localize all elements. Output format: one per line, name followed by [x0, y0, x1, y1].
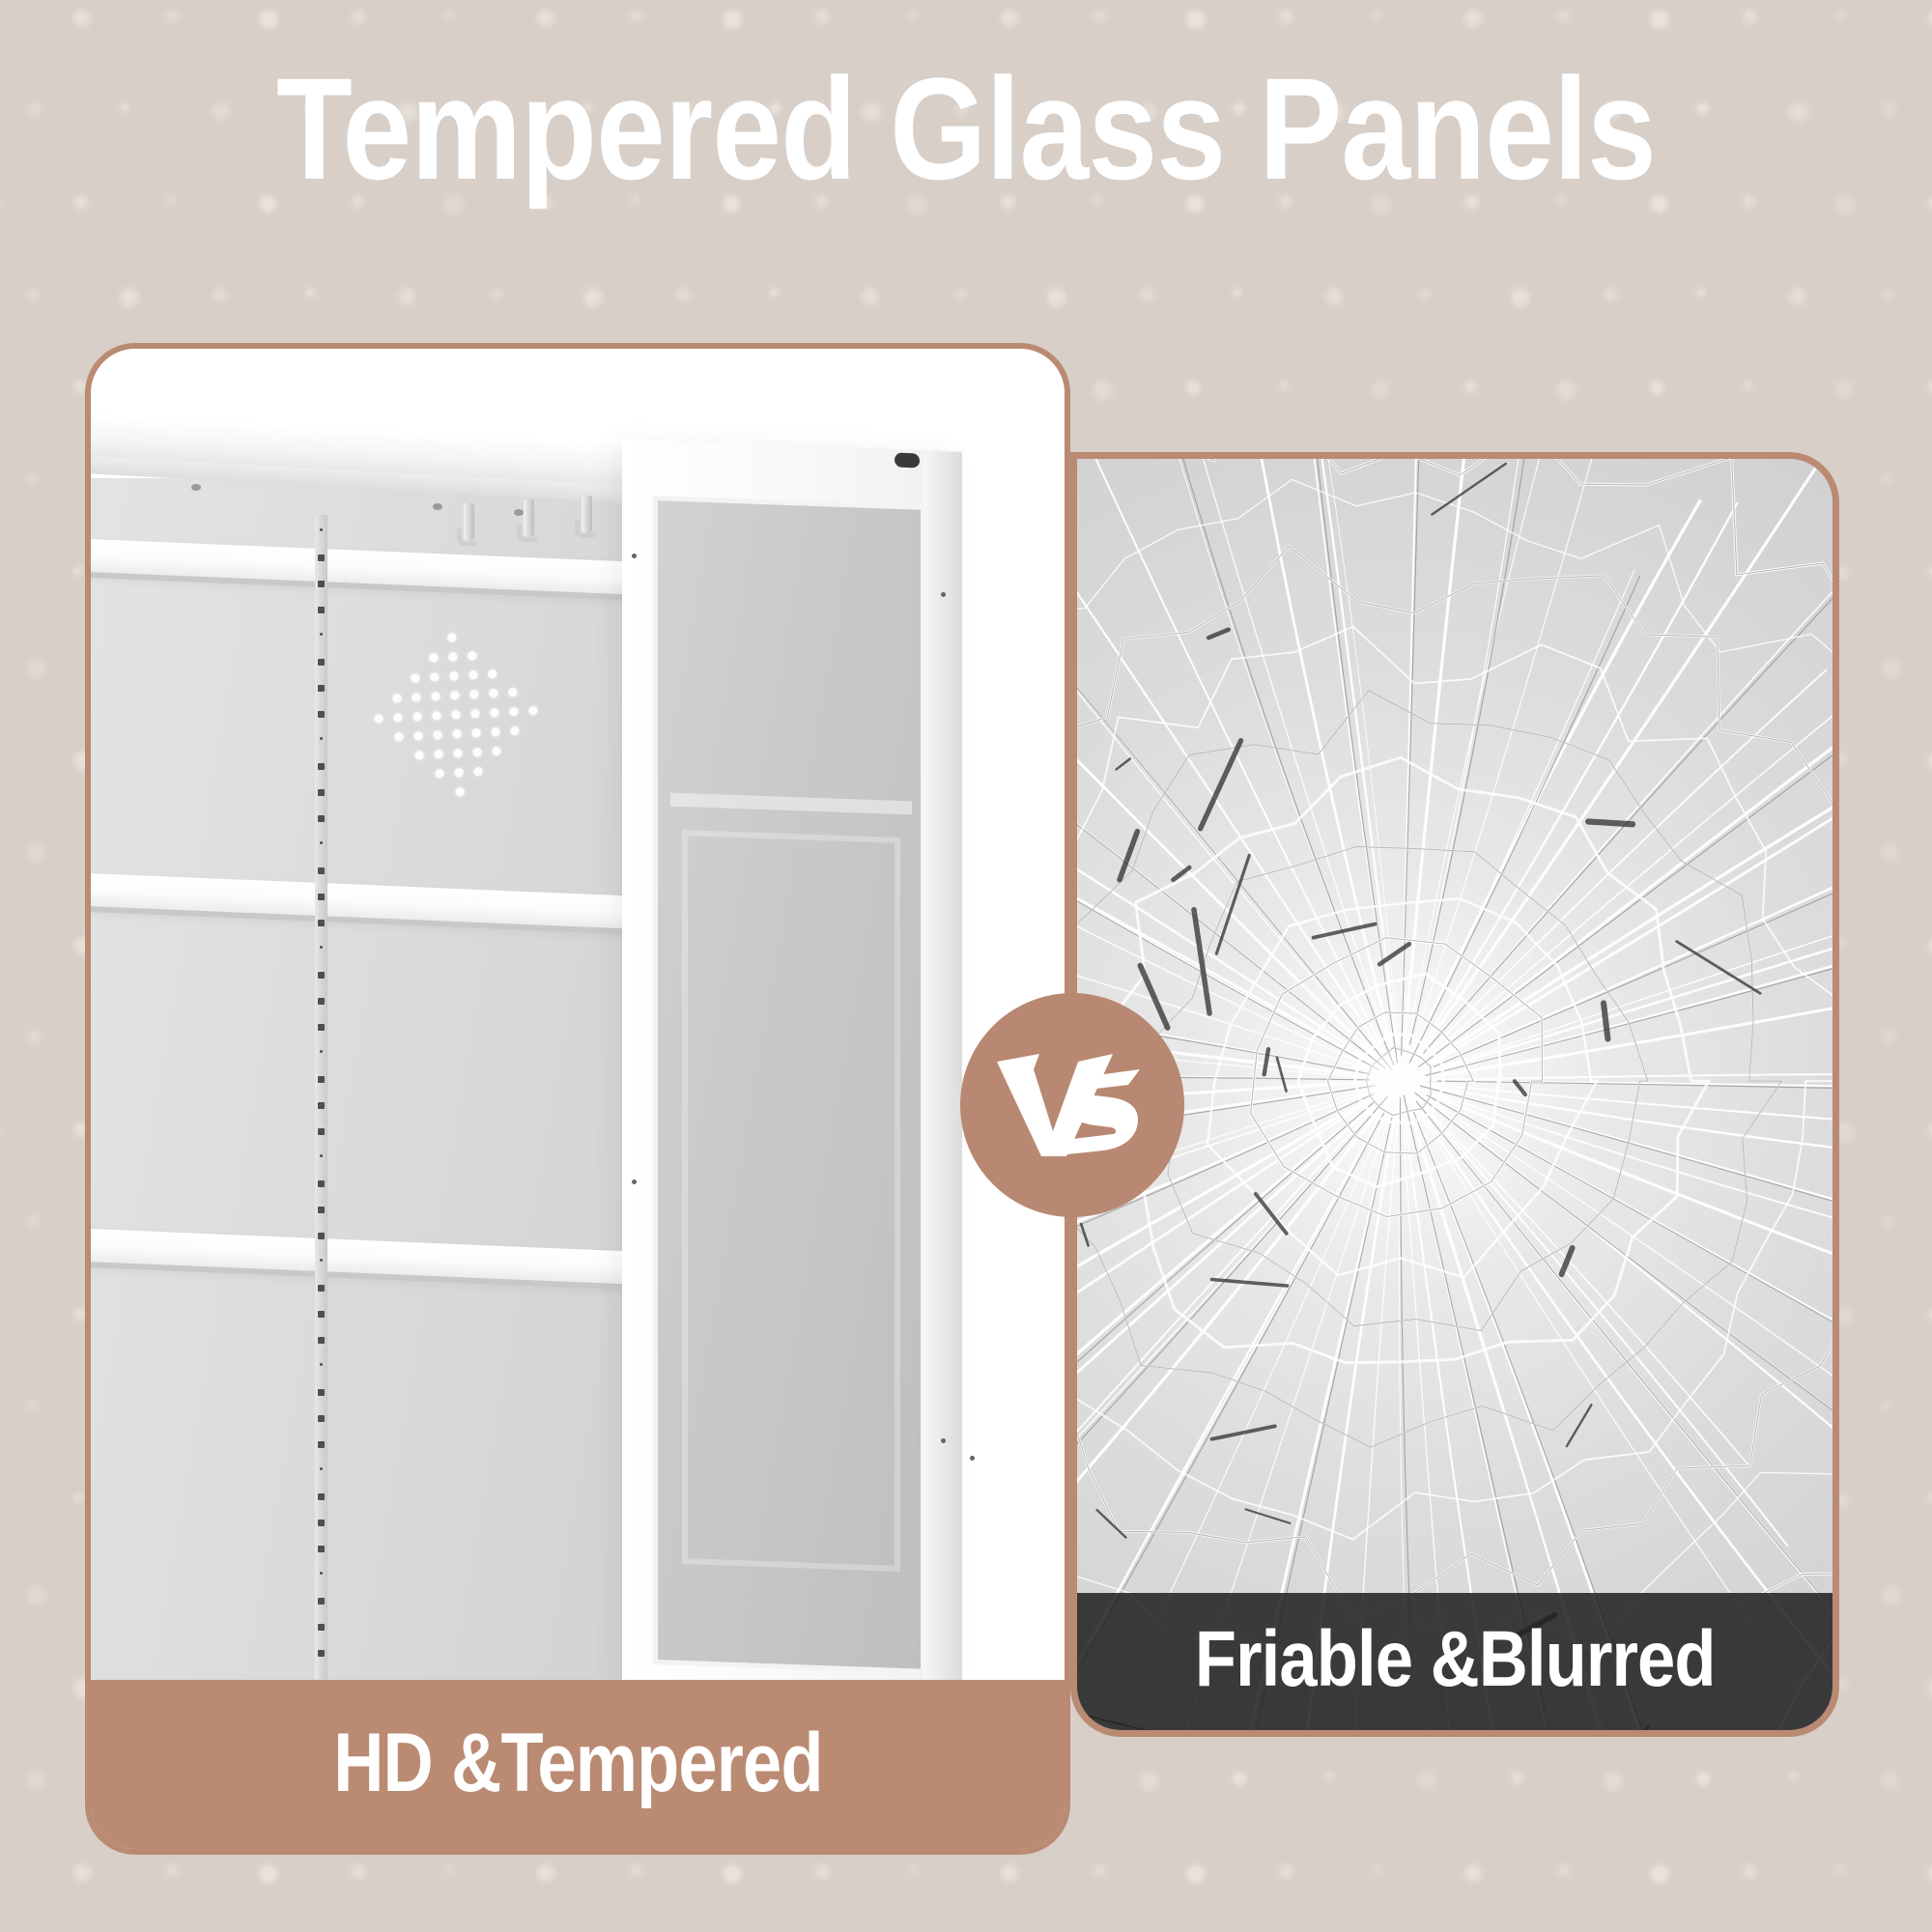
- ventilation-perforation-pattern: [370, 628, 554, 820]
- shelf-slot: [318, 581, 325, 587]
- shelf-slot: [318, 1337, 325, 1344]
- background-dot: [1464, 381, 1477, 393]
- background-dot: [1557, 10, 1570, 22]
- background-dot: [1882, 1772, 1899, 1789]
- background-dot: [1928, 10, 1932, 27]
- background-dot: [1557, 381, 1577, 400]
- vent-hole: [394, 732, 403, 741]
- shelf-slot: [318, 763, 325, 770]
- vent-hole: [393, 713, 402, 722]
- shelf-slot: [320, 1467, 323, 1470]
- vent-hole: [449, 671, 458, 680]
- vent-hole: [374, 714, 383, 723]
- shelf-slot: [320, 737, 323, 740]
- vent-hole: [489, 689, 497, 697]
- shelf-slot: [318, 685, 325, 692]
- vent-hole: [454, 768, 463, 777]
- screw-icon: [433, 503, 442, 510]
- vent-hole: [470, 709, 479, 718]
- vent-hole: [430, 672, 439, 681]
- background-dot: [1835, 10, 1845, 19]
- background-dot: [1835, 1864, 1845, 1874]
- background-dot: [166, 10, 179, 22]
- page-title: Tempered Glass Panels: [135, 56, 1797, 201]
- shelf-slot: [318, 659, 325, 666]
- comparison-card-good[interactable]: HD &Tempered: [85, 343, 1070, 1855]
- background-dot: [1743, 10, 1757, 24]
- shelf-slot: [320, 1572, 323, 1575]
- background-dot: [1743, 381, 1752, 390]
- shelf-slot: [318, 1441, 325, 1448]
- background-dot: [1604, 1772, 1623, 1791]
- shelf-slot: [318, 711, 325, 718]
- shelf-slot: [318, 1180, 325, 1187]
- vent-hole: [510, 726, 519, 735]
- shelf-slot: [318, 1311, 325, 1318]
- background-dot: [723, 1864, 742, 1884]
- background-dot: [1882, 1030, 1896, 1044]
- background-dot: [815, 10, 830, 24]
- background-dot: [1464, 10, 1482, 27]
- background-dot: [1001, 10, 1018, 27]
- background-dot: [73, 10, 91, 27]
- background-dot: [305, 288, 315, 298]
- background-dot: [27, 1030, 42, 1044]
- background-dot: [1233, 1772, 1247, 1786]
- vent-hole: [411, 673, 419, 682]
- vent-hole: [491, 727, 499, 736]
- right-caption-label: Friable &Blurred: [1195, 1614, 1716, 1705]
- vent-hole: [414, 751, 423, 759]
- background-dot: [1928, 381, 1932, 393]
- background-dot: [1928, 1122, 1932, 1137]
- shelf-slot: [318, 894, 325, 900]
- background-dot: [1789, 1772, 1799, 1781]
- background-dot: [73, 1493, 83, 1503]
- background-dot: [1418, 1772, 1435, 1789]
- vent-hole: [434, 750, 442, 758]
- background-dot: [815, 1864, 830, 1879]
- background-dot: [1511, 288, 1530, 307]
- broken-glass-photo: [1070, 452, 1839, 1737]
- background-dot: [1835, 195, 1855, 214]
- background-dot: [27, 1772, 44, 1789]
- background-dot: [1789, 288, 1806, 305]
- background-dot: [73, 1864, 91, 1882]
- background-dot: [27, 1215, 40, 1228]
- vent-hole: [392, 694, 401, 702]
- background-dot: [398, 288, 415, 305]
- shelf-slot: [318, 1128, 325, 1135]
- background-dot: [1279, 381, 1289, 390]
- shelf-slot: [320, 946, 323, 949]
- background-dot: [27, 473, 37, 483]
- background-dot: [583, 288, 603, 307]
- background-dot: [630, 1864, 642, 1877]
- rivet-icon: [632, 554, 637, 558]
- shelf-slot: [320, 528, 323, 531]
- comparison-card-bad[interactable]: Friable &Blurred: [1070, 452, 1839, 1737]
- cabinet-left-wall: [85, 478, 91, 1691]
- background-dot: [1882, 659, 1901, 678]
- background-dot: [1882, 1586, 1901, 1605]
- background-dot: [1279, 10, 1293, 24]
- background-dot: [1140, 1772, 1159, 1791]
- background-dot: [1882, 1215, 1894, 1228]
- shelf-slot: [318, 1024, 325, 1031]
- shelf-slot: [318, 1102, 325, 1109]
- shelf-slot: [318, 1233, 325, 1239]
- background-dot: [1464, 1864, 1482, 1882]
- screw-icon: [191, 484, 201, 491]
- background-dot: [1094, 10, 1106, 22]
- background-dot: [352, 10, 366, 24]
- vent-hole: [435, 769, 443, 778]
- background-dot: [120, 102, 129, 112]
- background-dot: [444, 10, 454, 19]
- background-dot: [27, 659, 46, 678]
- background-dot: [676, 288, 691, 302]
- shelf-slot: [320, 841, 323, 844]
- background-dot: [1372, 381, 1389, 398]
- shattered-glass-texture: [1070, 452, 1839, 1737]
- background-dot: [73, 1308, 86, 1321]
- vent-hole: [508, 688, 517, 696]
- shelf-slot: [318, 972, 325, 979]
- background-dot: [1882, 102, 1896, 117]
- background-dot: [908, 10, 918, 19]
- vent-hole: [468, 651, 476, 660]
- coat-hook-icon: [464, 503, 474, 542]
- shelf-slot: [318, 1207, 325, 1213]
- background-dot: [1650, 381, 1664, 395]
- glass-crack-lines-icon: [1070, 452, 1839, 1737]
- background-dot: [1928, 1679, 1932, 1698]
- rivet-icon: [941, 1438, 946, 1443]
- vent-hole: [469, 690, 478, 698]
- background-dot: [1186, 10, 1206, 29]
- background-dot: [73, 566, 83, 576]
- background-dot: [1650, 10, 1669, 29]
- background-dot: [1882, 473, 1891, 483]
- vent-hole: [469, 670, 477, 679]
- left-caption-label: HD &Tempered: [333, 1716, 822, 1811]
- background-dot: [1928, 566, 1932, 576]
- background-dot: [120, 288, 139, 307]
- shelf-slot: [318, 1650, 325, 1657]
- rivet-icon: [941, 592, 946, 597]
- vent-hole: [492, 747, 500, 755]
- vent-hole: [472, 748, 481, 756]
- promo-banner: Tempered Glass Panels: [0, 0, 1932, 1932]
- background-dot: [1325, 288, 1343, 305]
- background-dot: [723, 10, 742, 29]
- background-dot: [1186, 1864, 1206, 1884]
- shelf-slot: [318, 789, 325, 796]
- background-dot: [1233, 288, 1242, 298]
- shelf-slot: [318, 1415, 325, 1422]
- background-dot: [27, 102, 42, 117]
- background-dot: [1511, 1772, 1523, 1784]
- shelf-slot: [318, 607, 325, 613]
- background-dot: [1372, 10, 1381, 19]
- shelf-slot: [320, 1050, 323, 1053]
- vent-hole: [455, 787, 464, 796]
- background-dot: [1696, 1772, 1711, 1786]
- background-dot: [259, 10, 278, 29]
- background-dot: [769, 288, 779, 298]
- background-dot: [1835, 381, 1853, 398]
- background-dot: [1418, 288, 1431, 300]
- background-dot: [213, 288, 227, 302]
- background-dot: [1928, 752, 1932, 771]
- background-dot: [1047, 288, 1066, 307]
- vent-hole: [473, 767, 482, 776]
- background-dot: [954, 288, 967, 300]
- background-dot: [1325, 1772, 1335, 1781]
- shelf-slot: [318, 554, 325, 561]
- background-dot: [1928, 1864, 1932, 1882]
- background-dot: [27, 844, 44, 862]
- vent-hole: [432, 711, 440, 720]
- vent-hole: [509, 707, 518, 716]
- background-dot: [1094, 1864, 1106, 1877]
- background-dot: [73, 381, 86, 393]
- background-dot: [1372, 1864, 1381, 1874]
- background-dot: [1928, 1308, 1932, 1321]
- shelf-slot: [318, 998, 325, 1005]
- background-dot: [166, 1864, 179, 1877]
- background-dot: [1094, 381, 1113, 400]
- shelf-slot: [318, 867, 325, 874]
- background-dot: [259, 1864, 278, 1884]
- background-dot: [73, 195, 88, 210]
- vs-badge: VS: [960, 993, 1184, 1217]
- shelf-slot: [318, 920, 325, 926]
- background-dot: [537, 1864, 554, 1882]
- coat-hook-icon: [582, 496, 592, 534]
- vent-hole: [471, 728, 480, 737]
- shelf-adjustment-strip: [315, 515, 327, 1691]
- background-dot: [1557, 1864, 1570, 1877]
- background-dot: [1928, 937, 1932, 954]
- shelf-slot: [320, 1154, 323, 1157]
- shelf-slot: [320, 633, 323, 636]
- vent-hole: [528, 706, 537, 715]
- shelf-slot: [318, 1493, 325, 1500]
- shelf-slot: [318, 1285, 325, 1292]
- vent-hole: [412, 712, 421, 721]
- shelf-slot: [318, 1520, 325, 1526]
- screw-icon: [514, 509, 524, 516]
- background-dot: [1928, 1493, 1932, 1503]
- left-caption-bar: HD &Tempered: [85, 1680, 1070, 1855]
- shelf-slot: [318, 1546, 325, 1552]
- background-dot: [1882, 1401, 1891, 1410]
- background-dot: [27, 1401, 37, 1410]
- cabinet-back-panel: [85, 478, 653, 1691]
- shelf-slot: [318, 815, 325, 822]
- background-dot: [1882, 844, 1899, 862]
- door-magnet-catch-icon: [895, 453, 920, 469]
- cabinet-photo: [85, 343, 1070, 1691]
- background-dot: [27, 1586, 46, 1605]
- vent-hole: [451, 710, 460, 719]
- background-dot: [1186, 381, 1201, 395]
- door-right-stile: [923, 451, 962, 1691]
- shelf-slot: [320, 1363, 323, 1366]
- background-dot: [1928, 195, 1932, 210]
- shelf-slot: [320, 1259, 323, 1262]
- vent-hole: [412, 693, 420, 701]
- rivet-icon: [632, 1179, 637, 1184]
- vent-hole: [448, 652, 457, 661]
- background-dot: [1279, 1864, 1293, 1879]
- glass-reflection-frame: [682, 830, 900, 1572]
- background-dot: [862, 288, 879, 305]
- rivet-icon: [970, 1456, 975, 1461]
- background-dot: [1140, 288, 1154, 302]
- vs-badge-icon: [995, 1048, 1150, 1162]
- background-dot: [630, 10, 642, 22]
- vent-hole: [452, 729, 461, 738]
- vent-hole: [433, 730, 441, 739]
- shelf-slot: [318, 1624, 325, 1631]
- background-dot: [491, 288, 503, 300]
- vent-hole: [450, 691, 459, 699]
- background-dot: [1604, 288, 1618, 302]
- shelf-slot: [318, 1598, 325, 1605]
- background-dot: [1696, 288, 1706, 298]
- background-dot: [1882, 288, 1894, 300]
- vent-hole: [413, 731, 422, 740]
- background-dot: [1650, 1864, 1669, 1884]
- coat-hook-icon: [524, 499, 534, 538]
- background-dot: [537, 10, 554, 27]
- vent-hole: [490, 708, 498, 717]
- shelf-slot: [318, 1389, 325, 1396]
- vent-hole: [453, 749, 462, 757]
- background-dot: [27, 288, 40, 300]
- vent-hole: [431, 692, 440, 700]
- background-dot: [352, 1864, 366, 1879]
- right-caption-bar: Friable &Blurred: [1077, 1593, 1833, 1730]
- vent-hole: [447, 633, 456, 641]
- background-dot: [1001, 1864, 1018, 1882]
- background-dot: [1743, 1864, 1757, 1879]
- background-dot: [444, 1864, 454, 1874]
- vent-hole: [488, 669, 497, 678]
- background-dot: [908, 1864, 918, 1874]
- shelf-slot: [318, 1076, 325, 1083]
- vent-hole: [429, 653, 438, 662]
